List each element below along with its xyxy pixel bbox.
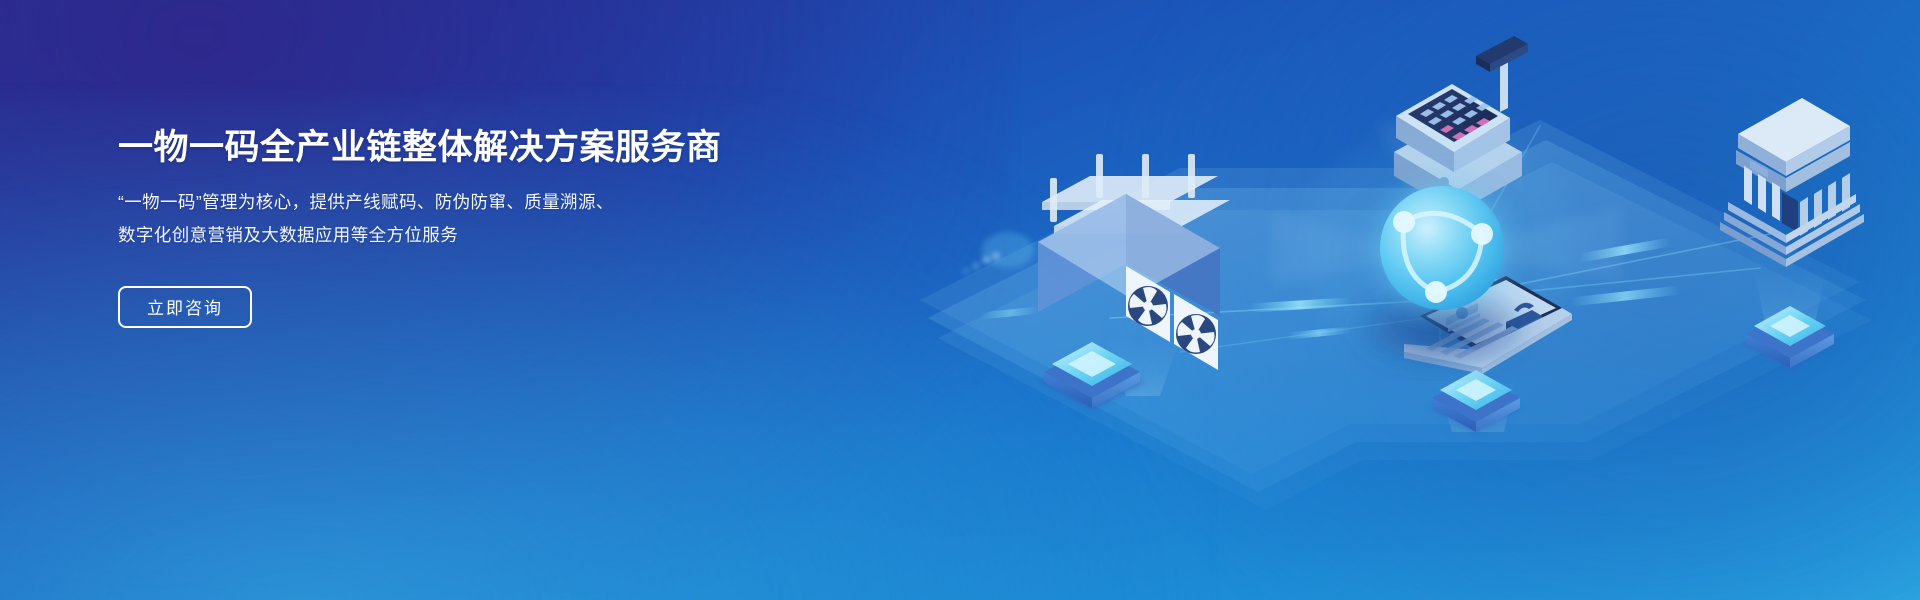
consult-now-button[interactable]: 立即咨询 — [118, 286, 252, 328]
background-glow-right — [1120, 0, 1920, 600]
hero-copy: 一物一码全产业链整体解决方案服务商 “一物一码”管理为核心，提供产线赋码、防伪防… — [118, 126, 838, 328]
hero-subtitle: “一物一码”管理为核心，提供产线赋码、防伪防窜、质量溯源、 数字化创意营销及大数… — [118, 186, 678, 252]
hero-banner: 一物一码全产业链整体解决方案服务商 “一物一码”管理为核心，提供产线赋码、防伪防… — [0, 0, 1920, 600]
hero-subtitle-line-2: 数字化创意营销及大数据应用等全方位服务 — [118, 219, 678, 252]
hero-subtitle-line-1: “一物一码”管理为核心，提供产线赋码、防伪防窜、质量溯源、 — [118, 192, 614, 212]
page-title: 一物一码全产业链整体解决方案服务商 — [118, 126, 838, 170]
